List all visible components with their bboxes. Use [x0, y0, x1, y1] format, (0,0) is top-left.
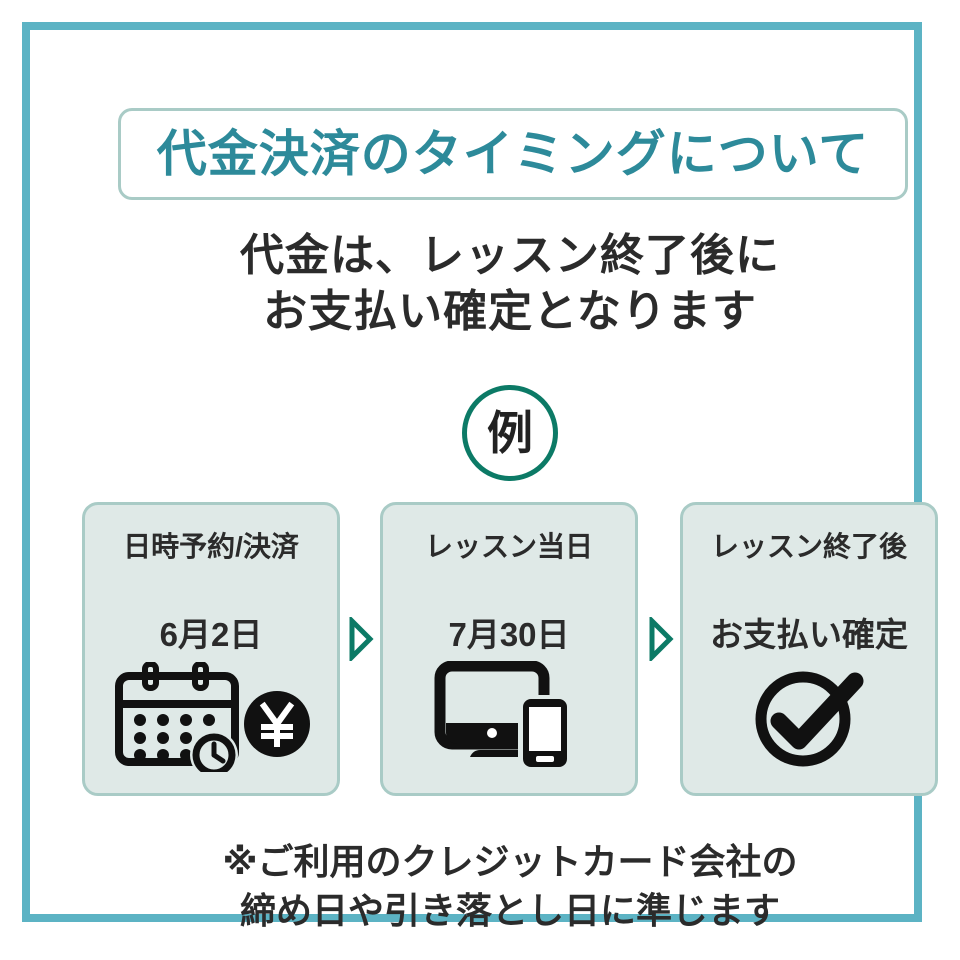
- step-card-value: お支払い確定: [683, 618, 935, 651]
- footer-note-line-1: ※ご利用のクレジットカード会社の: [30, 838, 960, 887]
- step-card-value: 7月30日: [383, 618, 635, 651]
- step-card-reservation: 日時予約/決済 6月2日: [82, 502, 340, 796]
- monitor-smartphone-icon: [383, 657, 635, 777]
- main-heading-line-2: お支払い確定となります: [30, 284, 960, 340]
- title-box: 代金決済のタイミングについて: [118, 108, 908, 200]
- footer-note-line-2: 締め日や引き落とし日に準じます: [30, 887, 960, 936]
- calendar-clock-yen-icon: [85, 657, 337, 777]
- outer-frame: 代金決済のタイミングについて 代金は、レッスン終了後に お支払い確定となります …: [22, 22, 922, 922]
- step-card-payment-confirmed: レッスン終了後 お支払い確定: [680, 502, 938, 796]
- step-card-title: レッスン当日: [383, 533, 635, 561]
- example-badge-label: 例: [487, 410, 533, 456]
- check-circle-icon: [683, 657, 935, 777]
- main-heading-line-1: 代金は、レッスン終了後に: [30, 228, 960, 284]
- step-card-title: 日時予約/決済: [85, 533, 337, 561]
- step-arrow-icon: [348, 617, 374, 661]
- example-badge: 例: [462, 385, 558, 481]
- step-card-value: 6月2日: [85, 618, 337, 651]
- step-arrow-icon: [648, 617, 674, 661]
- steps-row: 日時予約/決済 6月2日: [82, 502, 940, 796]
- step-card-lesson-day: レッスン当日 7月30日: [380, 502, 638, 796]
- step-card-title: レッスン終了後: [683, 533, 935, 561]
- footer-note: ※ご利用のクレジットカード会社の 締め日や引き落とし日に準じます: [30, 838, 960, 935]
- infographic-page: 代金決済のタイミングについて 代金は、レッスン終了後に お支払い確定となります …: [0, 0, 960, 960]
- main-heading: 代金は、レッスン終了後に お支払い確定となります: [30, 228, 960, 341]
- page-title: 代金決済のタイミングについて: [157, 129, 870, 179]
